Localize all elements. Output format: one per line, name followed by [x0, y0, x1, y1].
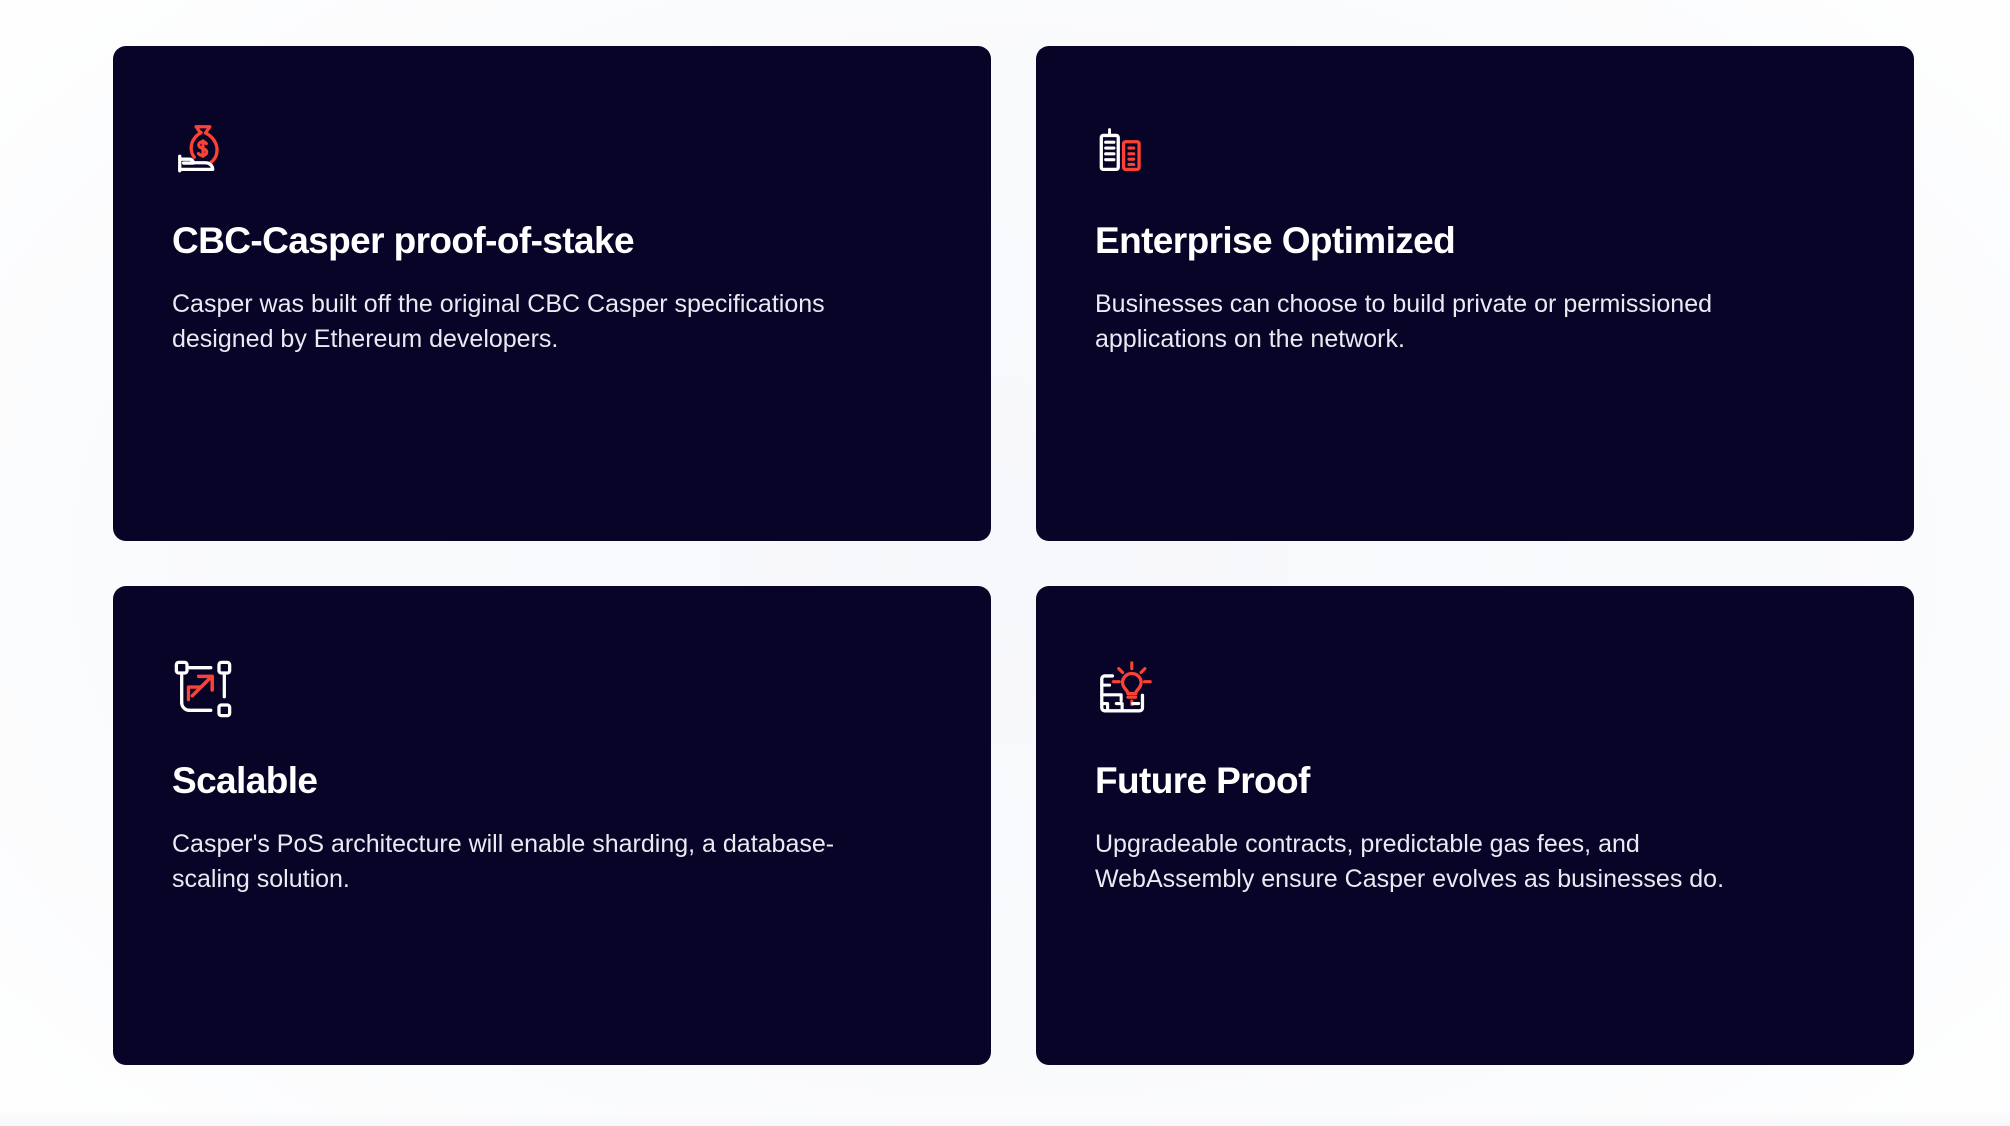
card-title: Future Proof [1095, 760, 1855, 803]
feature-card-grid: CBC-Casper proof-of-stake Casper was bui… [113, 46, 1892, 1065]
scale-expand-arrow-icon [172, 658, 234, 720]
card-body: Casper's PoS architecture will enable sh… [172, 827, 862, 898]
feature-card-cbc-casper[interactable]: CBC-Casper proof-of-stake Casper was bui… [113, 46, 991, 541]
office-buildings-icon [1095, 118, 1157, 180]
card-title: CBC-Casper proof-of-stake [172, 220, 932, 263]
feature-card-enterprise-optimized[interactable]: Enterprise Optimized Businesses can choo… [1036, 46, 1914, 541]
card-body: Upgradeable contracts, predictable gas f… [1095, 827, 1785, 898]
money-bag-in-hand-icon [172, 118, 234, 180]
card-title: Scalable [172, 760, 932, 803]
feature-card-future-proof[interactable]: Future Proof Upgradeable contracts, pred… [1036, 586, 1914, 1065]
card-title: Enterprise Optimized [1095, 220, 1855, 263]
lightbulb-circuit-icon [1095, 658, 1157, 720]
page-bottom-strip [0, 1112, 2010, 1126]
card-body: Casper was built off the original CBC Ca… [172, 287, 862, 358]
feature-card-scalable[interactable]: Scalable Casper's PoS architecture will … [113, 586, 991, 1065]
card-body: Businesses can choose to build private o… [1095, 287, 1785, 358]
